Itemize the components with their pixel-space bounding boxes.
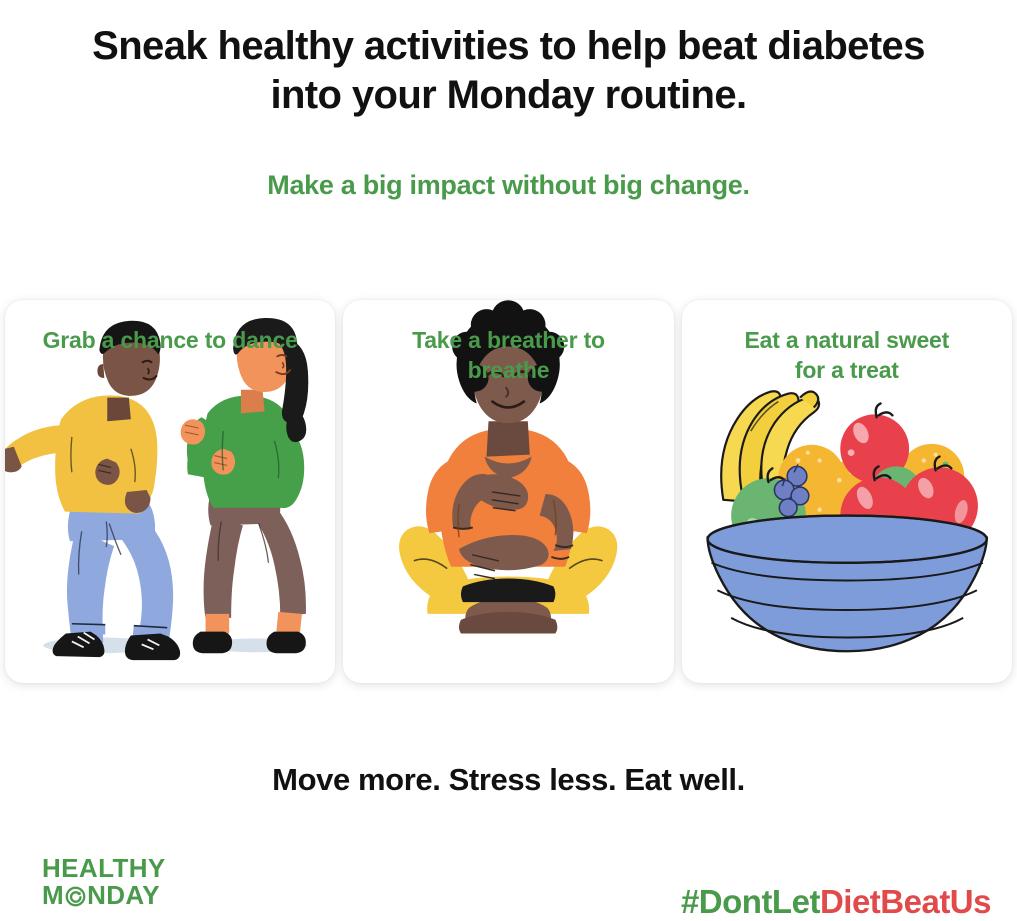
page-subheadline: Make a big impact without big change. (0, 170, 1017, 201)
hashtag-part-green: #DontLet (681, 883, 820, 920)
circular-refresh-arrow-icon (65, 886, 86, 907)
logo-line-monday: M NDAY (42, 882, 166, 909)
healthy-monday-logo[interactable]: HEALTHY M NDAY (42, 855, 166, 908)
logo-text-healthy: HEALTHY (42, 855, 166, 882)
logo-text-monday-prefix: M (42, 882, 64, 909)
footer-tagline: Move more. Stress less. Eat well. (0, 762, 1017, 798)
card-title-fruit-line-2: for a treat (795, 357, 899, 383)
card-title-fruit: Eat a natural sweet for a treat (682, 326, 1012, 386)
activity-cards-row: Grab a chance to dance (5, 300, 1012, 683)
card-title-breathe: Take a breather to breathe (343, 326, 673, 386)
card-title-breathe-line-2: breathe (468, 357, 550, 383)
activity-card-dance[interactable]: Grab a chance to dance (5, 300, 335, 683)
logo-text-monday-suffix: NDAY (87, 882, 160, 909)
card-title-fruit-line-1: Eat a natural sweet (745, 327, 950, 353)
activity-card-breathe[interactable]: Take a breather to breathe (343, 300, 673, 683)
two-people-dancing-illustration (5, 300, 335, 683)
campaign-hashtag[interactable]: #DontLetDietBeatUs (681, 883, 991, 921)
headline-line-2: into your Monday routine. (30, 71, 987, 120)
logo-line-healthy: HEALTHY (42, 855, 166, 882)
page-headline: Sneak healthy activities to help beat di… (0, 22, 1017, 120)
card-title-dance-line-1: Grab a chance to dance (43, 327, 298, 353)
headline-line-1: Sneak healthy activities to help beat di… (30, 22, 987, 71)
hashtag-part-red: DietBeatUs (820, 883, 991, 920)
activity-card-fruit[interactable]: Eat a natural sweet for a treat (682, 300, 1012, 683)
card-title-breathe-line-1: Take a breather to (412, 327, 605, 353)
card-title-dance: Grab a chance to dance (5, 326, 335, 356)
